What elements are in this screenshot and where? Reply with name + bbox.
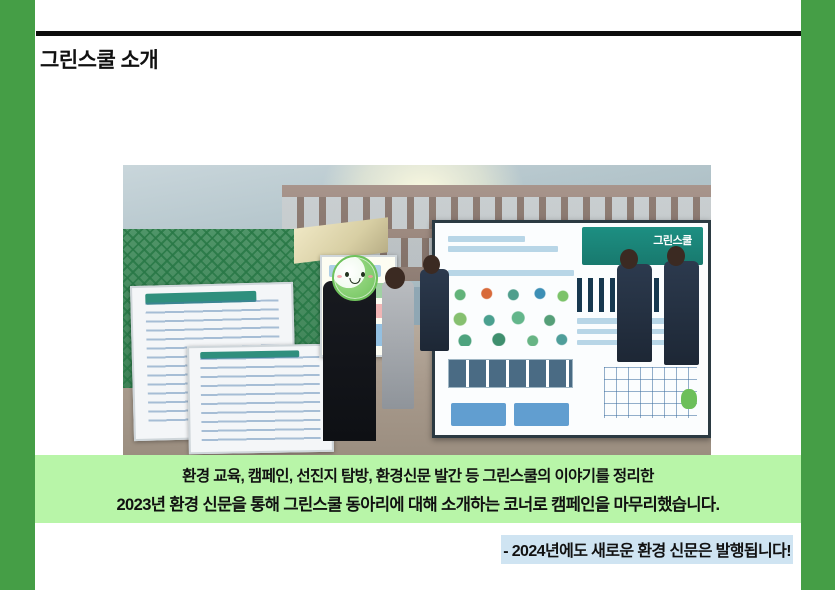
caption-highlight-band: 환경 교육, 캠페인, 선진지 탐방, 환경신문 발간 등 그린스쿨의 이야기를… — [35, 455, 801, 523]
mascot-face — [343, 272, 367, 286]
student-figure — [420, 269, 449, 350]
poster-mascot-icon — [681, 389, 697, 409]
header-divider-rule — [36, 31, 801, 36]
student-figure-front — [323, 281, 376, 441]
poster-brand-title: 그린스쿨 — [653, 232, 691, 248]
student-figure — [382, 281, 414, 409]
mascot-mouth-icon — [349, 278, 360, 284]
page-title: 그린스쿨 소개 — [40, 44, 158, 74]
student-head — [620, 249, 638, 269]
poster-board-left-lower — [187, 344, 334, 455]
poster-icon-grid — [448, 282, 568, 346]
caption-line-2: 2023년 환경 신문을 통해 그린스쿨 동아리에 대해 소개하는 코너로 캠페… — [35, 491, 801, 515]
slide-root: 그린스쿨 소개 그린스쿨 — [0, 0, 835, 590]
right-green-border — [801, 0, 835, 590]
poster-blue-box — [514, 403, 569, 426]
student-figure — [664, 261, 699, 365]
mascot-eye-right-icon — [361, 272, 365, 277]
poster-text-row — [448, 270, 574, 276]
campaign-photo: 그린스쿨 — [123, 165, 711, 455]
poster-photo-strip — [448, 359, 573, 389]
poster-text-row — [448, 236, 525, 242]
poster-text-lines — [200, 356, 320, 442]
caption-line-1: 환경 교육, 캠페인, 선진지 탐방, 환경신문 발간 등 그린스쿨의 이야기를… — [35, 464, 801, 486]
closing-note: - 2024년에도 새로운 환경 신문은 발행됩니다! — [501, 535, 793, 564]
poster-blue-box — [451, 403, 506, 426]
face-cover-mascot-sticker — [332, 255, 378, 301]
student-head — [385, 267, 405, 289]
mascot-blush-left — [337, 275, 342, 278]
mascot-eye-left-icon — [345, 272, 349, 277]
student-head — [667, 246, 685, 266]
student-head — [423, 255, 440, 274]
student-figure — [617, 264, 652, 363]
mascot-blush-right — [368, 275, 373, 278]
poster-text-row — [448, 246, 557, 251]
left-green-border — [0, 0, 35, 590]
